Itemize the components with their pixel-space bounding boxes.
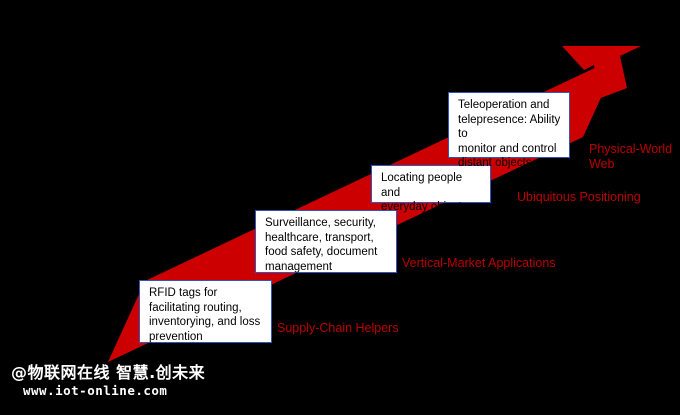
watermark: @物联网在线 智慧.创未来 www.iot-online.com xyxy=(11,363,205,399)
stage-label-supply-chain-helpers: Supply-Chain Helpers xyxy=(277,321,447,336)
iot-evolution-diagram: RFID tags for facilitating routing, inve… xyxy=(0,0,680,415)
watermark-site-name: @物联网在线 智慧.创未来 xyxy=(11,363,205,383)
watermark-url: www.iot-online.com xyxy=(11,383,205,399)
stage-label-physical-world-web: Physical-World Web xyxy=(589,142,675,172)
stage-label-vertical-market-applications: Vertical-Market Applications xyxy=(402,256,602,271)
callout-surveillance: Surveillance, security, healthcare, tran… xyxy=(255,210,397,273)
callout-rfid-tags: RFID tags for facilitating routing, inve… xyxy=(139,280,272,343)
stage-label-ubiquitous-positioning: Ubiquitous Positioning xyxy=(517,190,680,205)
callout-locating-people: Locating people and everyday objects xyxy=(371,165,491,203)
staircase-arrow-graphic xyxy=(0,0,680,415)
callout-teleoperation: Teleoperation and telepresence: Ability … xyxy=(448,92,570,158)
